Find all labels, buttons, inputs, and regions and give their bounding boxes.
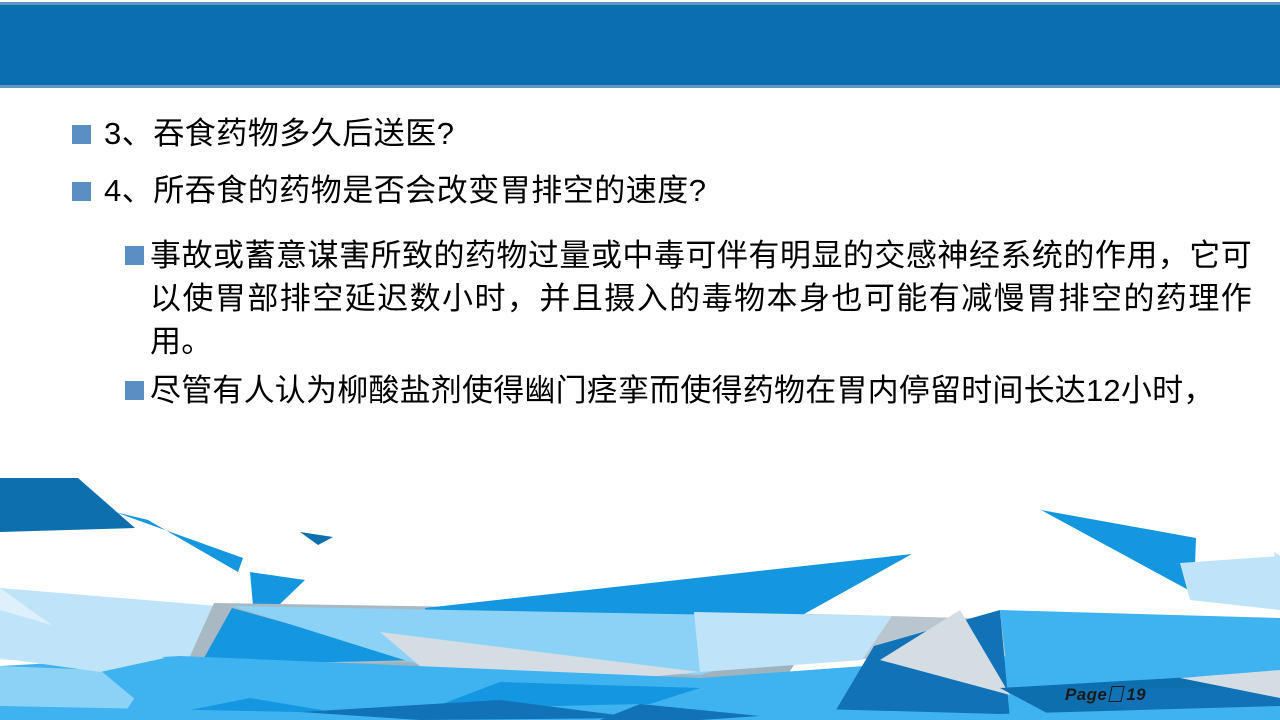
- bullet-square-icon: [72, 125, 91, 144]
- bullet-level2-text: 尽管有人认为柳酸盐剂使得幽门痉挛而使得药物在胃内停留时间长达12小时，: [150, 373, 1214, 408]
- bullet-level2-text: 事故或蓄意谋害所致的药物过量或中毒可伴有明显的交感神经系统的作用，它可以使胃部排…: [150, 238, 1252, 359]
- bullet-square-icon: [125, 381, 144, 400]
- header-banner: [0, 2, 1280, 88]
- bullet-level1-item: 4、所吞食的药物是否会改变胃排空的速度?: [0, 169, 1280, 212]
- bullet-level1-text: 4、所吞食的药物是否会改变胃排空的速度?: [104, 173, 706, 208]
- bullet-level2-item: 尽管有人认为柳酸盐剂使得幽门痉挛而使得药物在胃内停留时间长达12小时，: [0, 369, 1280, 412]
- bullet-square-icon: [72, 182, 91, 201]
- page-number-value: 19: [1126, 685, 1146, 704]
- page-number-footer: Page19: [1065, 685, 1146, 705]
- page-label: Page: [1065, 685, 1107, 704]
- bullet-square-icon: [125, 246, 144, 265]
- decorative-lowpoly-graphic: [0, 460, 1280, 720]
- bullet-level1-text: 3、吞食药物多久后送医?: [104, 116, 454, 151]
- slide-canvas: 3、吞食药物多久后送医? 4、所吞食的药物是否会改变胃排空的速度? 事故或蓄意谋…: [0, 0, 1280, 720]
- missing-glyph-box-icon: [1109, 686, 1125, 702]
- bullet-level1-item: 3、吞食药物多久后送医?: [0, 112, 1280, 155]
- slide-body: 3、吞食药物多久后送医? 4、所吞食的药物是否会改变胃排空的速度? 事故或蓄意谋…: [0, 112, 1280, 418]
- spacer: [0, 226, 1280, 234]
- bullet-level2-item: 事故或蓄意谋害所致的药物过量或中毒可伴有明显的交感神经系统的作用，它可以使胃部排…: [0, 234, 1280, 363]
